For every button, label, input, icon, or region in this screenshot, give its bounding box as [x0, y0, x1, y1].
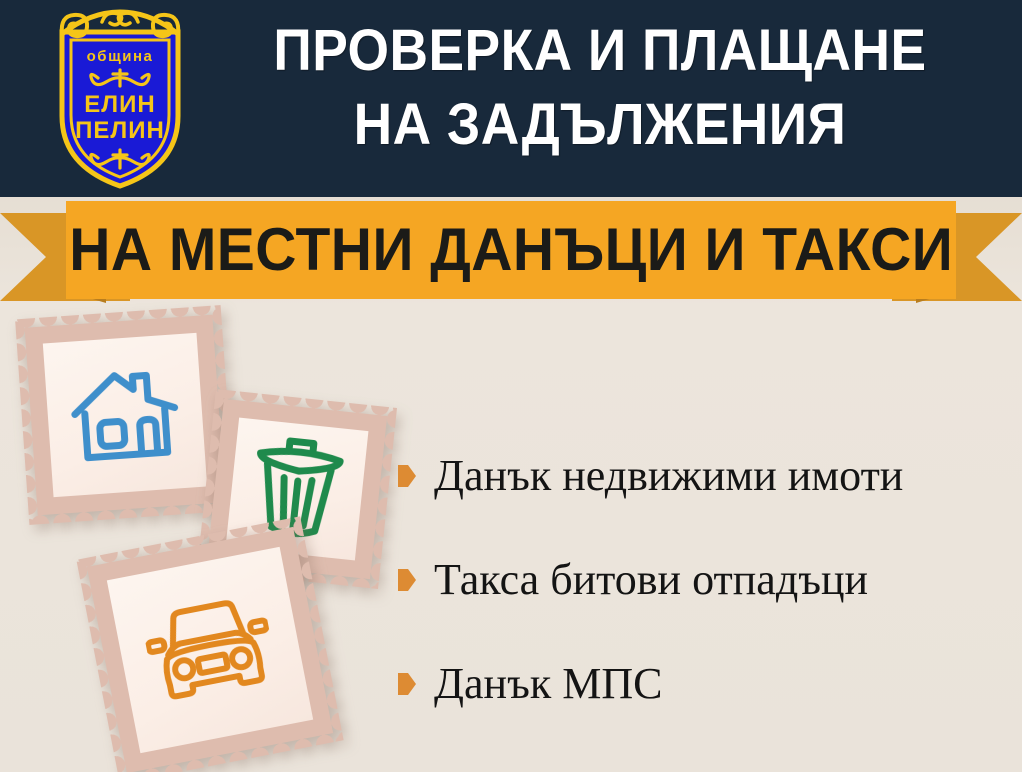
coat-of-arms-icon: община ЕЛИН ПЕЛИН [40, 8, 200, 190]
list-item[interactable]: Данък недвижими имоти [398, 424, 1008, 528]
poster-canvas: община ЕЛИН ПЕЛИН [0, 0, 1022, 772]
ribbon-label: НА МЕСТНИ ДАНЪЦИ И ТАКСИ [69, 220, 953, 280]
arrow-bullet-icon [398, 569, 416, 591]
header-bar: община ЕЛИН ПЕЛИН [0, 0, 1022, 197]
stamp-border [76, 516, 343, 772]
ribbon-banner: НА МЕСТНИ ДАНЪЦИ И ТАКСИ [66, 201, 956, 299]
stamp-border [15, 305, 235, 525]
arrow-bullet-icon [398, 465, 416, 487]
house-icon [66, 361, 185, 469]
car-icon [140, 590, 280, 710]
stamp-card-car [76, 516, 343, 772]
stamp-card-house [15, 305, 235, 525]
svg-text:ПЕЛИН: ПЕЛИН [75, 117, 165, 144]
municipality-logo: община ЕЛИН ПЕЛИН [40, 8, 200, 190]
arrow-bullet-icon [398, 673, 416, 695]
services-list: Данък недвижими имоти Такса битови отпад… [398, 424, 1008, 736]
list-item[interactable]: Такса битови отпадъци [398, 528, 1008, 632]
list-item[interactable]: Данък МПС [398, 632, 1008, 736]
subtitle-ribbon: НА МЕСТНИ ДАНЪЦИ И ТАКСИ [0, 196, 1022, 306]
page-title-line-1: ПРОВЕРКА И ПЛАЩАНЕ [223, 14, 977, 88]
page-title-line-2: НА ЗАДЪЛЖЕНИЯ [223, 88, 977, 162]
stamp-face [107, 547, 313, 753]
list-item-label: Данък недвижими имоти [434, 453, 903, 499]
svg-text:ЕЛИН: ЕЛИН [84, 91, 155, 118]
stamp-face [43, 333, 207, 497]
svg-text:община: община [87, 48, 154, 65]
list-item-label: Такса битови отпадъци [434, 557, 868, 603]
page-title: ПРОВЕРКА И ПЛАЩАНЕ НА ЗАДЪЛЖЕНИЯ [223, 14, 977, 162]
list-item-label: Данък МПС [434, 661, 662, 707]
